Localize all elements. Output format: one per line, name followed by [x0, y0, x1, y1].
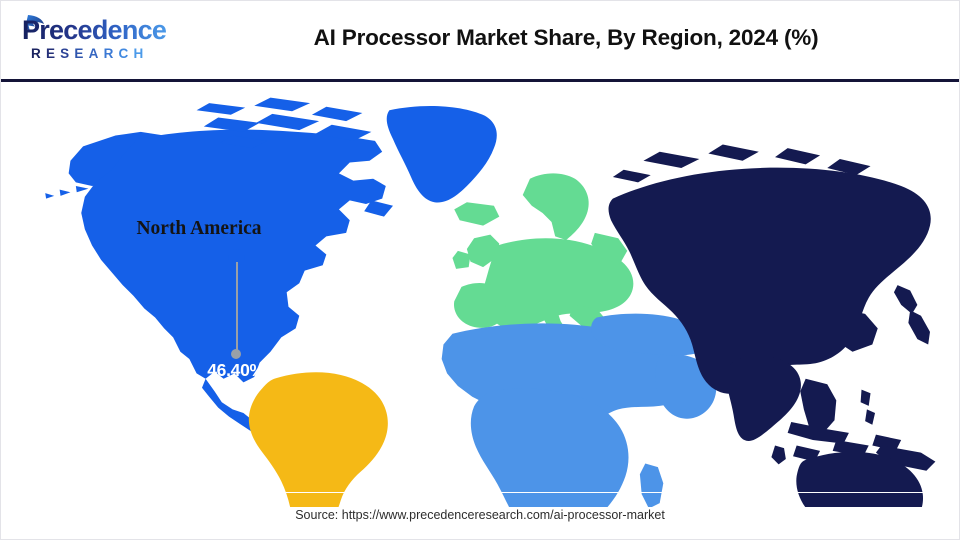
region-latin-america[interactable]	[249, 372, 388, 507]
source-note: Source: https://www.precedenceresearch.c…	[1, 508, 959, 522]
logo-subtitle: RESEARCH	[31, 46, 148, 62]
north-america-callout[interactable]: North America 46.40%	[119, 218, 339, 388]
callout-value: 46.40%	[156, 360, 316, 381]
logo-wordmark-svg: Precedence	[15, 13, 180, 47]
page-title: AI Processor Market Share, By Region, 20…	[181, 25, 951, 51]
precedence-research-logo: Precedence RESEARCH	[15, 13, 180, 65]
callout-region-label: North America	[119, 218, 279, 240]
chart-page: Precedence RESEARCH AI Processor Market …	[0, 0, 960, 540]
chart-header: Precedence RESEARCH AI Processor Market …	[1, 1, 959, 79]
logo-wordmark-text: Precedence	[22, 15, 167, 45]
callout-leader-line	[236, 262, 238, 354]
footer-divider	[1, 492, 959, 493]
map-container: North America 46.40%	[1, 82, 959, 539]
callout-anchor-dot-icon	[231, 349, 241, 359]
